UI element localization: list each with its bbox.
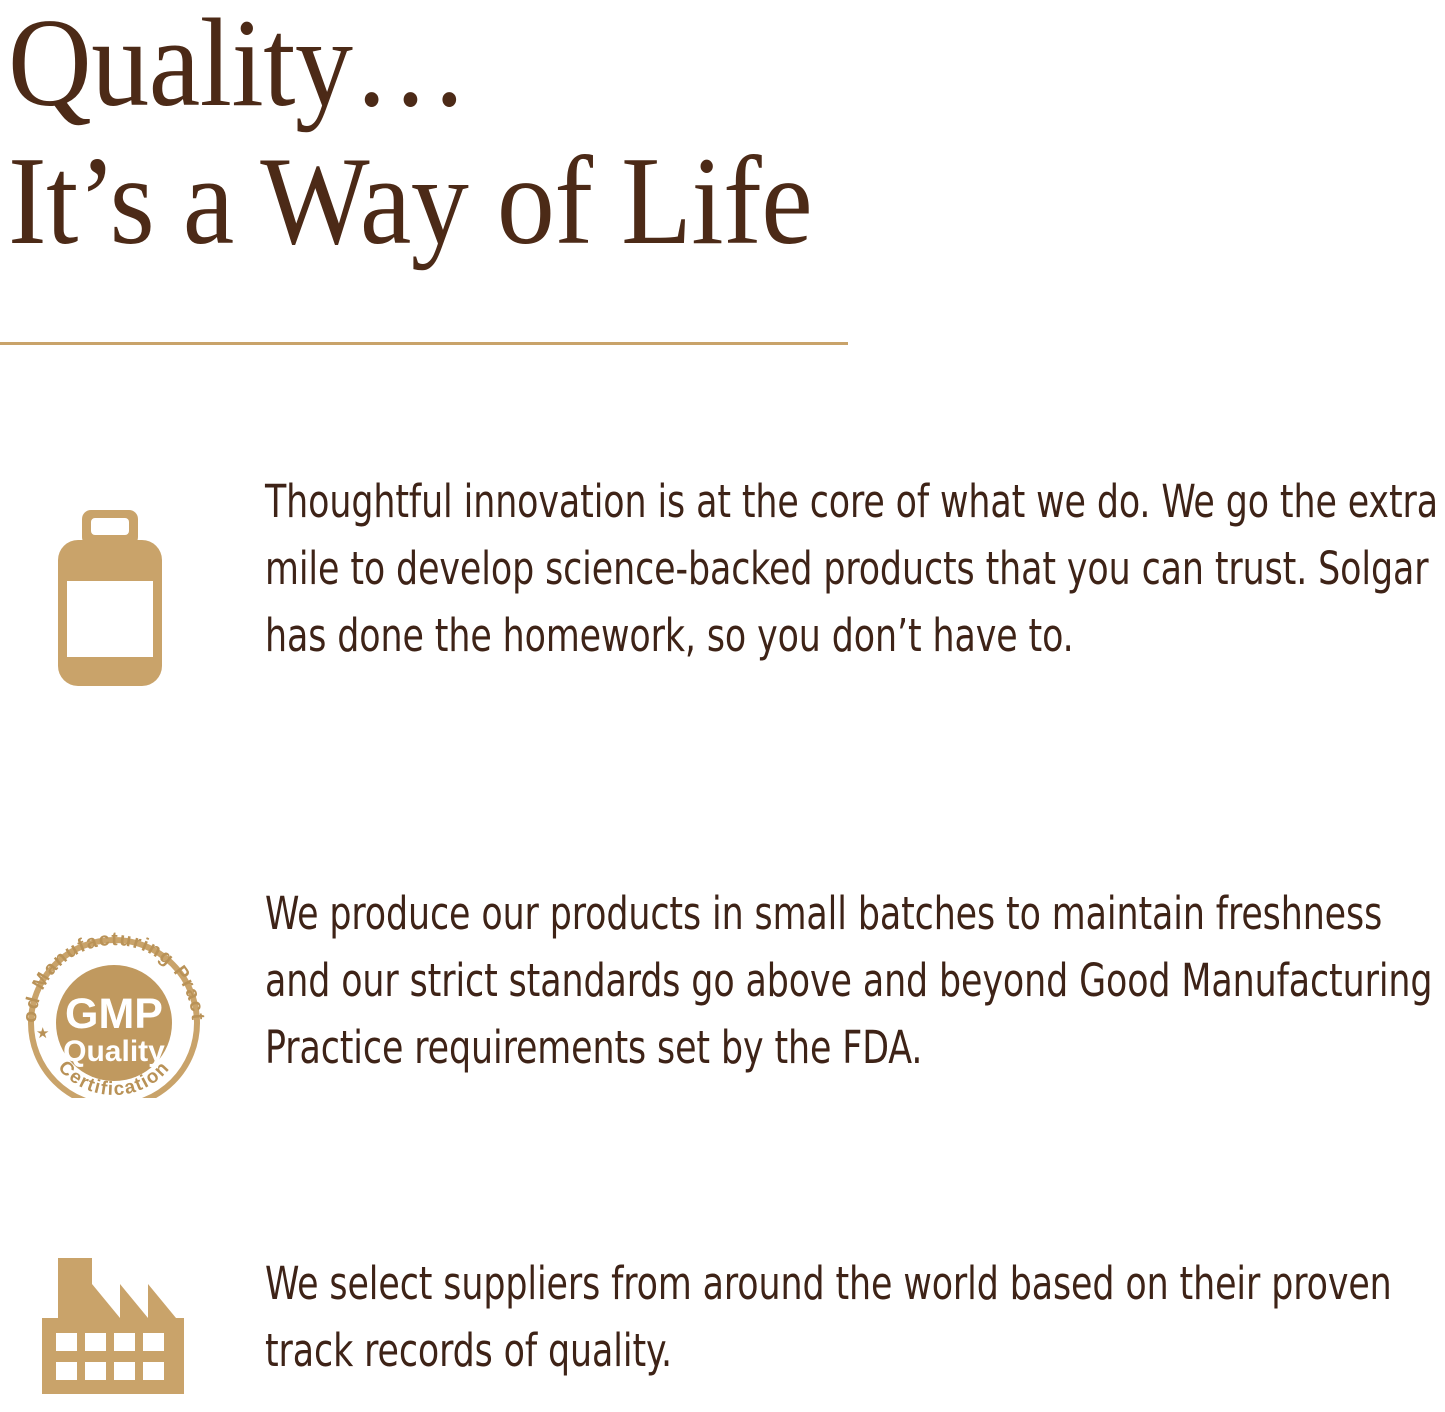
gmp-star-separator: ★ bbox=[36, 1024, 49, 1042]
quality-way-of-life-panel: Quality… It’s a Way of Life bbox=[0, 0, 1445, 1412]
title-divider bbox=[0, 342, 848, 345]
feature-text-cell: We select suppliers from around the worl… bbox=[265, 1250, 1445, 1384]
feature-text-innovation: Thoughtful innovation is at the core of … bbox=[265, 468, 1442, 669]
feature-icon-cell bbox=[0, 468, 265, 686]
feature-icon-cell: Good Manufacturing Practice Certificatio… bbox=[0, 880, 265, 1098]
feature-text-suppliers: We select suppliers from around the worl… bbox=[265, 1250, 1442, 1384]
page-title: Quality… It’s a Way of Life bbox=[8, 2, 1108, 266]
feature-row-innovation: Thoughtful innovation is at the core of … bbox=[0, 468, 1445, 686]
feature-text-cell: We produce our products in small batches… bbox=[265, 880, 1445, 1081]
page-title-line-1: Quality… bbox=[8, 2, 1020, 126]
feature-row-gmp: Good Manufacturing Practice Certificatio… bbox=[0, 880, 1445, 1098]
page-title-line-2: It’s a Way of Life bbox=[8, 138, 1020, 266]
gmp-center-line-2: Quality bbox=[63, 1035, 165, 1068]
factory-icon bbox=[42, 1258, 184, 1394]
feature-icon-cell bbox=[0, 1250, 265, 1394]
feature-row-suppliers: We select suppliers from around the worl… bbox=[0, 1250, 1445, 1394]
gmp-center-line-1: GMP bbox=[65, 990, 163, 1038]
feature-text-gmp: We produce our products in small batches… bbox=[265, 880, 1442, 1081]
gmp-quality-seal-icon: Good Manufacturing Practice Certificatio… bbox=[14, 928, 214, 1098]
supplement-bottle-icon bbox=[58, 510, 162, 686]
feature-text-cell: Thoughtful innovation is at the core of … bbox=[265, 468, 1445, 669]
